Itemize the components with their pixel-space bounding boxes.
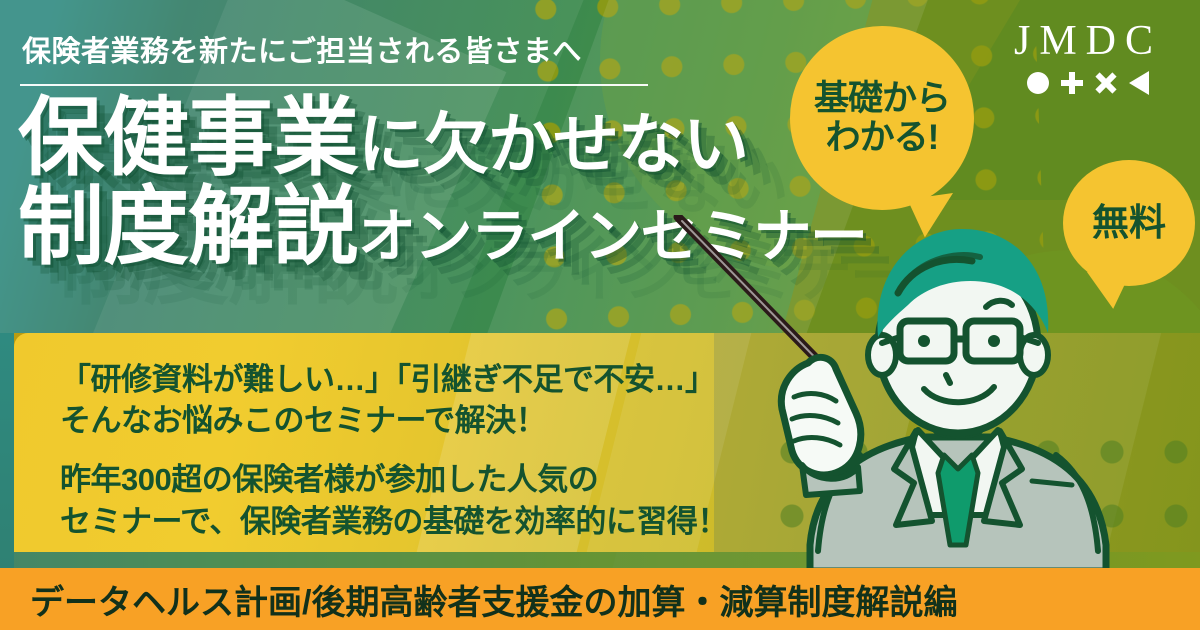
jmdc-logo: JMDC bbox=[1002, 20, 1174, 95]
headline-line-2-main: 制度解説 bbox=[18, 179, 358, 275]
tagline: 保険者業務を新たにご担当される皆さまへ bbox=[22, 28, 582, 70]
copy-line: セミナーで、保険者業務の基礎を効率的に習得！ bbox=[60, 501, 714, 542]
triangle-mark-icon bbox=[1129, 71, 1149, 95]
headline-line-1-main: 保健事業 bbox=[18, 90, 358, 186]
bottom-bar: データヘルス計画/後期高齢者支援金の加算・減算制度解説編 bbox=[0, 568, 1200, 630]
headline-line-1-sub: に欠かせない bbox=[358, 107, 748, 181]
badge-basics-line-1: 基礎から bbox=[814, 79, 950, 118]
copy-line: 「研修資料が難しい…」「引継ぎ不足で不安…」 bbox=[60, 359, 714, 400]
tagline-divider bbox=[20, 84, 648, 86]
hand bbox=[781, 357, 860, 495]
badge-free: 無料 bbox=[1063, 160, 1195, 286]
plus-mark-icon bbox=[1061, 72, 1083, 94]
badge-basics: 基礎から わかる! bbox=[790, 26, 974, 210]
circle-mark-icon bbox=[1027, 72, 1049, 94]
copy-panel: 「研修資料が難しい…」「引継ぎ不足で不安…」 そんなお悩みこのセミナーで解決！ … bbox=[14, 333, 714, 552]
seminar-banner: 保険者業務を新たにご担当される皆さまへ 保健事業に欠かせない 制度解説オンライン… bbox=[0, 0, 1200, 630]
jmdc-logo-marks bbox=[1002, 71, 1174, 95]
copy-group-benefit: 昨年300超の保険者様が参加した人気の セミナーで、保険者業務の基礎を効率的に習… bbox=[60, 459, 714, 541]
jmdc-logo-wordmark: JMDC bbox=[1002, 20, 1174, 62]
x-mark-icon bbox=[1095, 72, 1117, 94]
badge-basics-line-2: わかる! bbox=[826, 118, 939, 157]
copy-line: そんなお悩みこのセミナーで解決！ bbox=[60, 400, 714, 441]
bottom-bar-label: データヘルス計画/後期高齢者支援金の加算・減算制度解説編 bbox=[30, 575, 957, 624]
copy-group-problem: 「研修資料が難しい…」「引継ぎ不足で不安…」 そんなお悩みこのセミナーで解決！ bbox=[60, 359, 714, 441]
badge-basics-tail bbox=[907, 193, 958, 239]
badge-free-label: 無料 bbox=[1092, 202, 1166, 243]
copy-line: 昨年300超の保険者様が参加した人気の bbox=[60, 459, 714, 500]
badge-free-tail bbox=[1083, 272, 1128, 310]
left-teal-rail bbox=[0, 333, 14, 570]
